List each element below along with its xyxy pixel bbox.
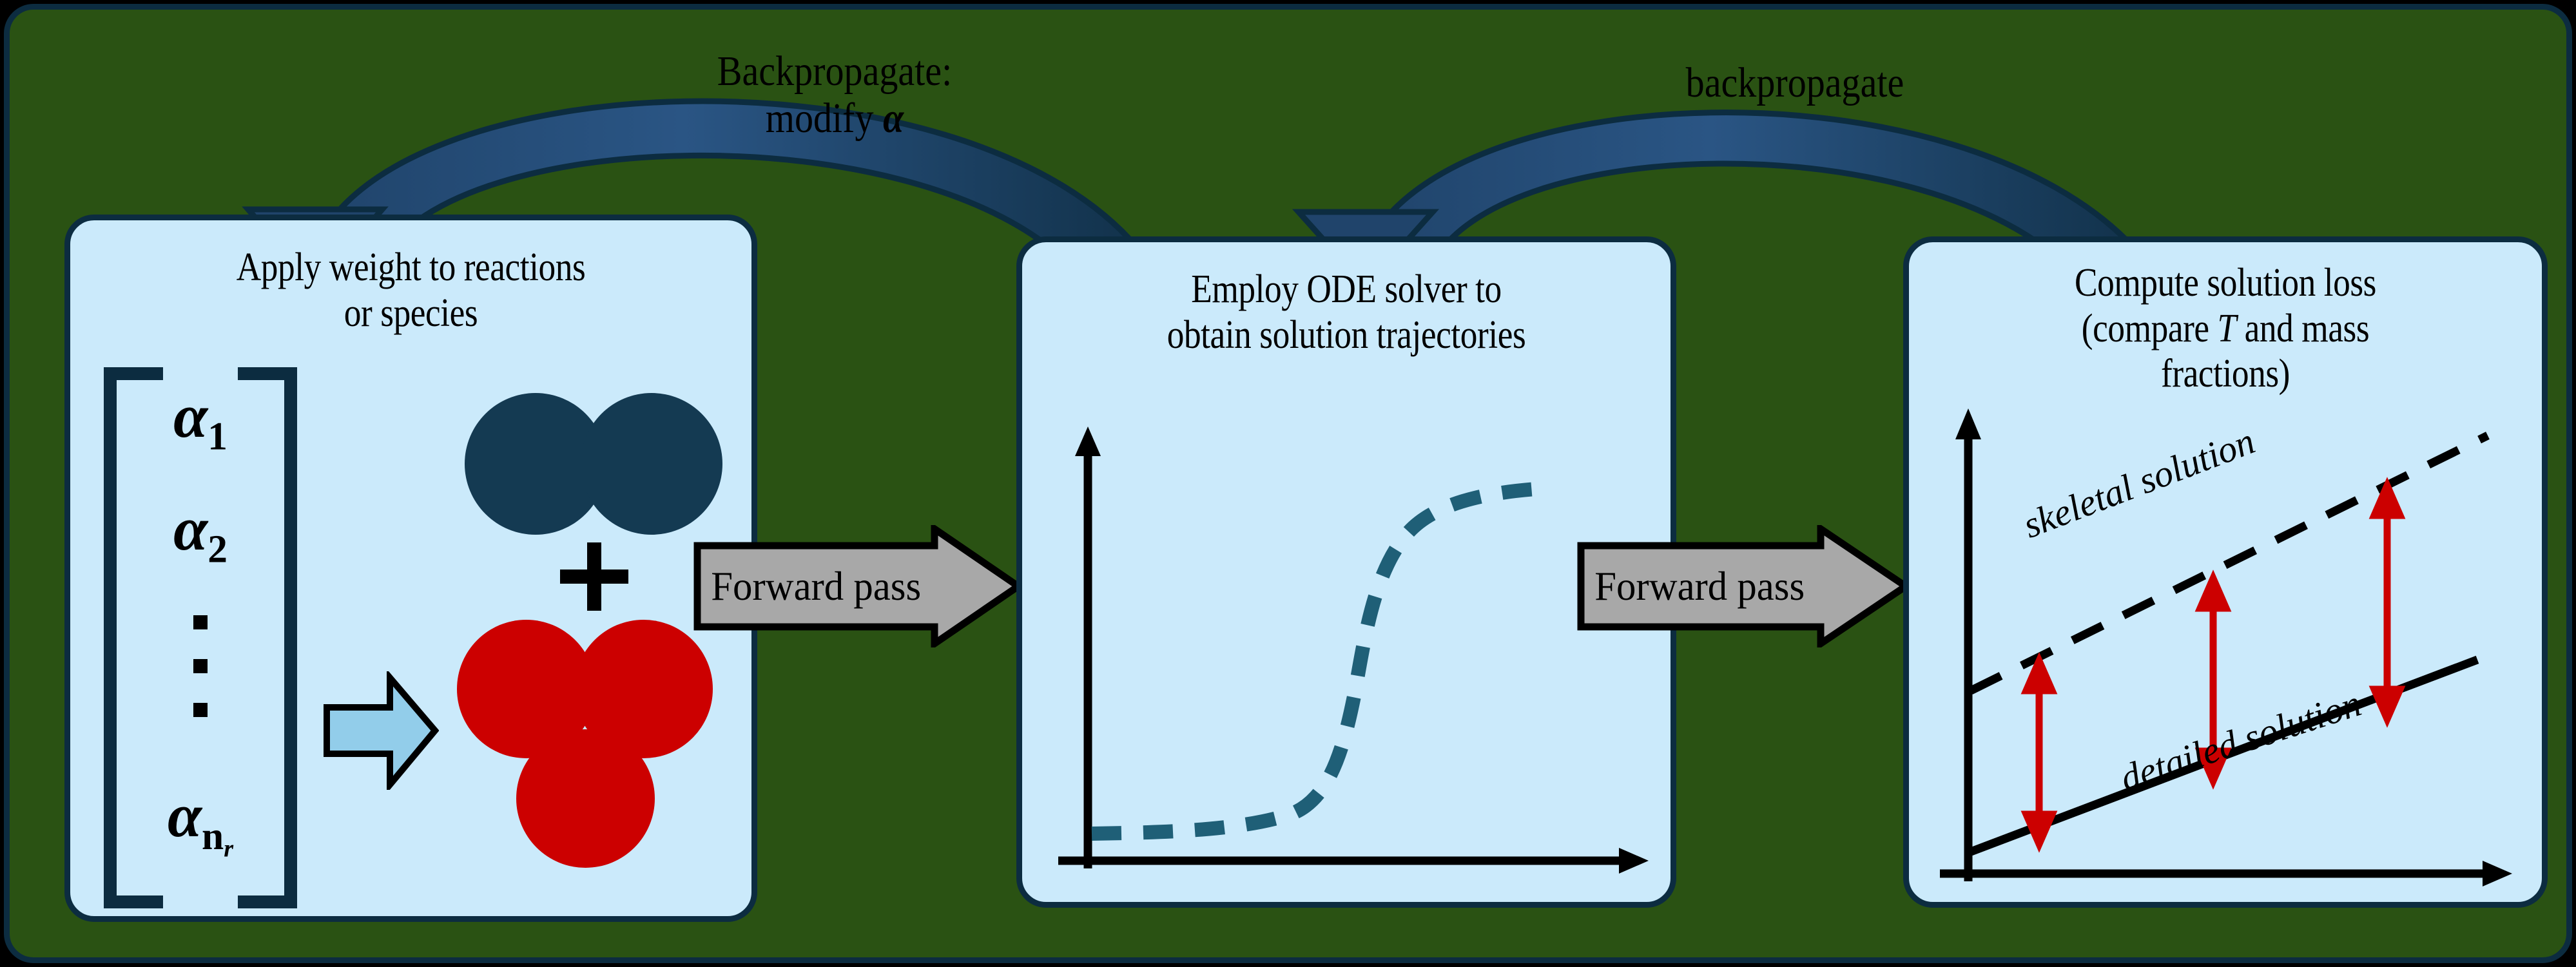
alpha-vector-matrix: α1 α2 αnr xyxy=(104,367,297,908)
panel-apply-title: Apply weight to reactionsor species xyxy=(118,245,704,336)
plus-operator-icon xyxy=(560,542,628,611)
forward-pass-arrow-2: Forward pass xyxy=(1577,525,1910,647)
figure-root: Backpropagate:modify α backpropagate App… xyxy=(0,0,2576,967)
panel-apply-weight: Apply weight to reactionsor species α1 α… xyxy=(64,215,757,922)
triatomic-molecule-icon xyxy=(457,620,715,871)
panel-compute-loss: Compute solution loss(compare T and mass… xyxy=(1903,236,2548,908)
forward-pass-arrow-1: Forward pass xyxy=(693,525,1022,647)
vertical-dots-icon xyxy=(104,615,297,747)
panel-loss-title: Compute solution loss(compare T and mass… xyxy=(1953,260,2498,397)
panel-ode-title: Employ ODE solver toobtain solution traj… xyxy=(1067,267,1625,358)
apply-right-block-arrow-icon xyxy=(323,671,439,790)
backpropagate-label-2: backpropagate xyxy=(1574,60,2016,107)
solution-trajectory-chart xyxy=(1045,416,1659,886)
figure-board: Backpropagate:modify α backpropagate App… xyxy=(4,4,2572,963)
solution-loss-chart: skeletal solution detailed solution xyxy=(1928,397,2534,899)
matrix-row-alpha-nr: αnr xyxy=(104,780,297,863)
matrix-row-alpha-1: α1 xyxy=(104,380,297,460)
matrix-row-alpha-2: α2 xyxy=(104,493,297,573)
backpropagate-label-1: Backpropagate:modify α xyxy=(619,48,1051,142)
diatomic-molecule-icon xyxy=(465,393,722,535)
